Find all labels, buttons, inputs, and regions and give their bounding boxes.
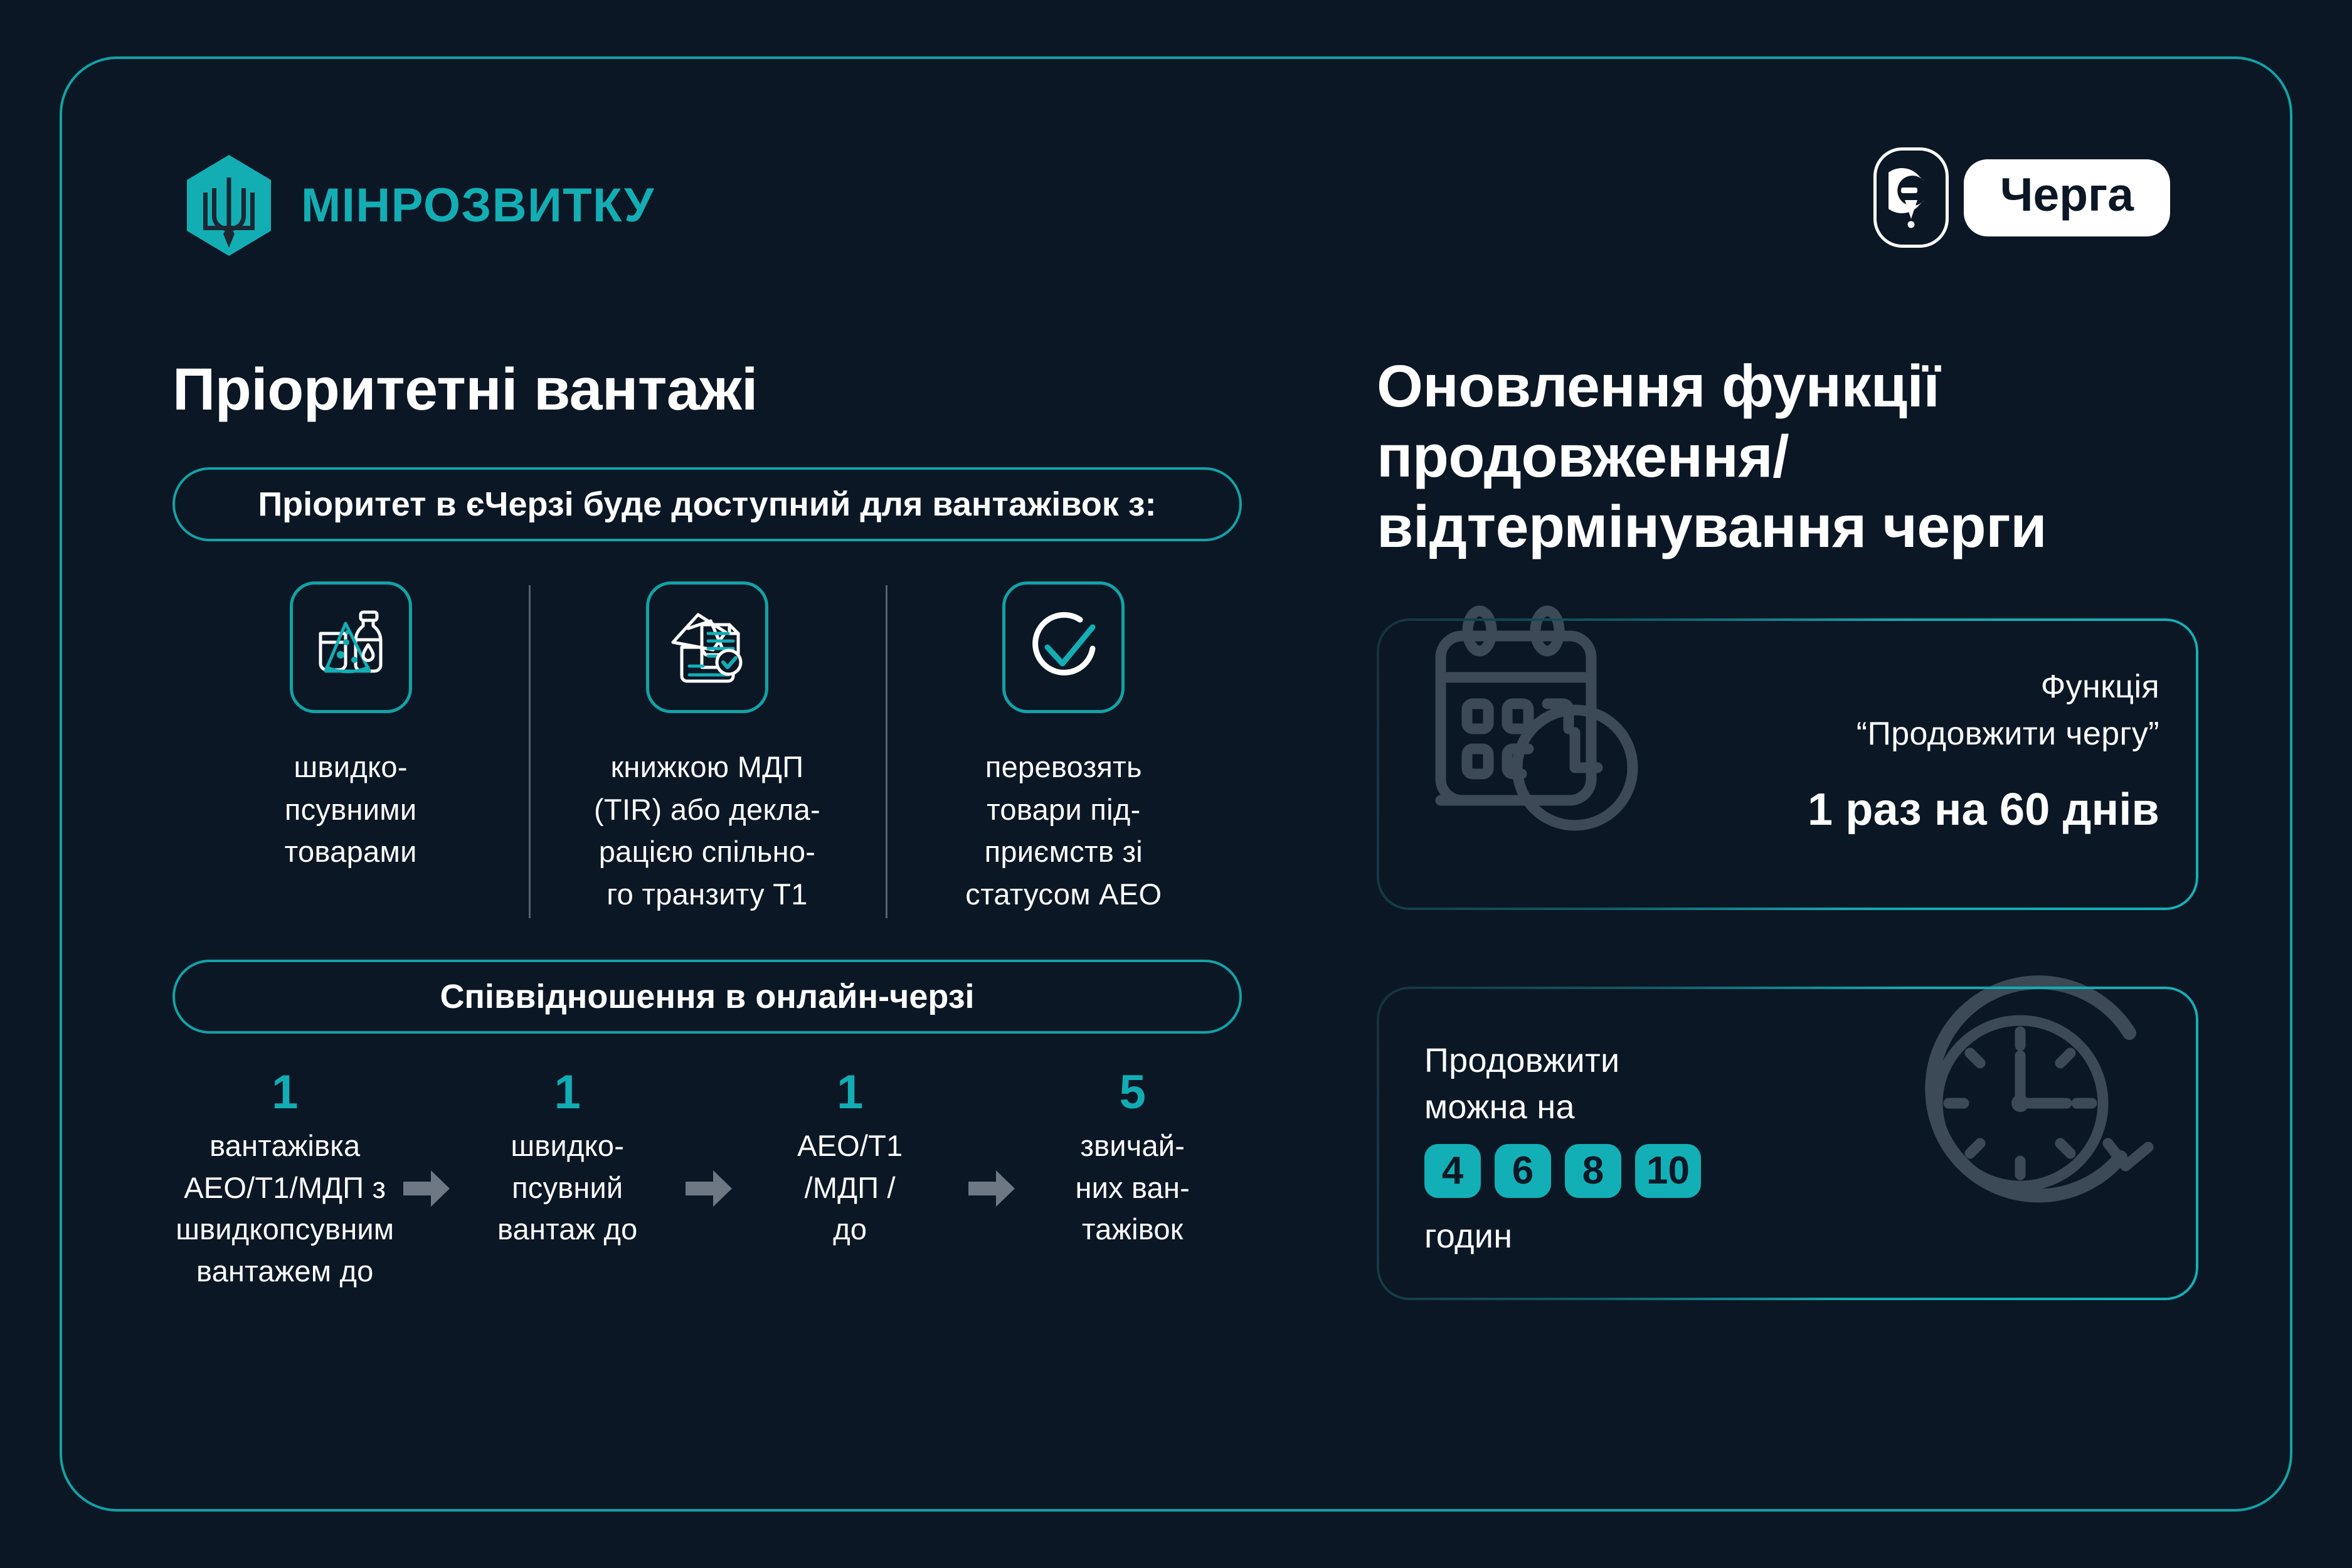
- renew-card-text: Функція “Продовжити чергу” 1 раз на 60 д…: [1808, 664, 2159, 835]
- ratio-step: 1 вантажівка АЕО/Т1/МДП з швидкопсувним …: [172, 1069, 398, 1293]
- hours-options[interactable]: 4 6 8 10: [1424, 1144, 1701, 1198]
- priority-criteria-pill: Пріоритет в єЧерзі буде доступний для ва…: [172, 467, 1242, 541]
- ukraine-trident-hexagon-icon: [182, 154, 276, 257]
- clock-refresh-icon: [1887, 958, 2176, 1256]
- renew-frequency-card: Функція “Продовжити чергу” 1 раз на 60 д…: [1377, 618, 2198, 910]
- left-title: Пріоритетні вантажі: [172, 354, 1276, 425]
- brand-name: МІНРОЗВИТКУ: [301, 182, 655, 230]
- ratio-label: АЕО/Т1 /МДП / до: [797, 1125, 903, 1251]
- ratio-number: 1: [554, 1069, 581, 1116]
- left-column: Пріоритетні вантажі Пріоритет в єЧерзі б…: [172, 354, 1276, 1293]
- ratio-step: 5 звичай- них ван- тажівок: [1020, 1069, 1246, 1251]
- brand-lockup: МІНРОЗВИТКУ: [182, 154, 655, 257]
- ratio-flow: 1 вантажівка АЕО/Т1/МДП з швидкопсувним …: [172, 1069, 1245, 1293]
- ratio-step: 1 швидко- псувний вантаж до: [455, 1069, 681, 1251]
- criteria-item: перевозять товари під- приємств зі стату…: [886, 581, 1242, 916]
- right-column: Оновлення функції продовження/ відтермін…: [1377, 351, 2198, 1300]
- ratio-label: вантажівка АЕО/Т1/МДП з швидкопсувним ва…: [176, 1125, 394, 1293]
- infographic-poster: МІНРОЗВИТКУ Черга Пріоритетні вантажі Пр…: [0, 0, 2352, 1568]
- ratio-label: звичай- них ван- тажівок: [1075, 1125, 1190, 1251]
- extend-card-text: Продовжити можна на 4 6 8 10 годин: [1424, 1038, 1701, 1256]
- criteria-label: перевозять товари під- приємств зі стату…: [965, 746, 1162, 916]
- right-title: Оновлення функції продовження/ відтермін…: [1377, 351, 2198, 562]
- ye-diia-logo-icon: [1873, 147, 1949, 248]
- extend-lead-text: Продовжити можна на: [1424, 1038, 1701, 1130]
- ratio-number: 1: [837, 1069, 863, 1116]
- hour-chip[interactable]: 6: [1495, 1144, 1551, 1198]
- documents-folder-check-icon: [646, 581, 768, 713]
- app-badge-group[interactable]: Черга: [1873, 147, 2170, 248]
- criteria-item: швидко- псувними товарами: [172, 581, 529, 916]
- renew-highlight: 1 раз на 60 днів: [1808, 784, 2159, 835]
- hour-chip[interactable]: 4: [1424, 1144, 1481, 1198]
- criteria-label: швидко- псувними товарами: [285, 746, 417, 873]
- calendar-clock-icon: [1413, 600, 1683, 872]
- arrow-right-icon: [680, 1069, 738, 1207]
- renew-line-2: “Продовжити чергу”: [1808, 711, 2159, 758]
- queue-badge-label[interactable]: Черга: [1964, 159, 2170, 236]
- hour-chip[interactable]: 8: [1565, 1144, 1621, 1198]
- arrow-right-icon: [398, 1069, 455, 1207]
- extend-hours-card: Продовжити можна на 4 6 8 10 годин: [1377, 987, 2198, 1300]
- arrow-right-icon: [963, 1069, 1020, 1207]
- check-circle-icon: [1002, 581, 1125, 713]
- header: МІНРОЗВИТКУ Черга: [182, 147, 2170, 260]
- hours-unit-label: годин: [1424, 1217, 1701, 1256]
- renew-line-1: Функція: [1808, 664, 2159, 711]
- ratio-step: 1 АЕО/Т1 /МДП / до: [738, 1069, 963, 1251]
- ratio-number: 1: [272, 1069, 298, 1116]
- hour-chip[interactable]: 10: [1635, 1144, 1701, 1198]
- ratio-pill: Співвідношення в онлайн-черзі: [172, 960, 1242, 1034]
- perishable-goods-icon: [290, 581, 412, 713]
- criteria-label: книжкою МДП (TIR) або декла- рацією спіл…: [594, 746, 820, 916]
- criteria-list: швидко- псувними товарами: [172, 581, 1242, 916]
- ratio-label: швидко- псувний вантаж до: [497, 1125, 638, 1251]
- ratio-number: 5: [1120, 1069, 1146, 1116]
- criteria-item: книжкою МДП (TIR) або декла- рацією спіл…: [529, 581, 885, 916]
